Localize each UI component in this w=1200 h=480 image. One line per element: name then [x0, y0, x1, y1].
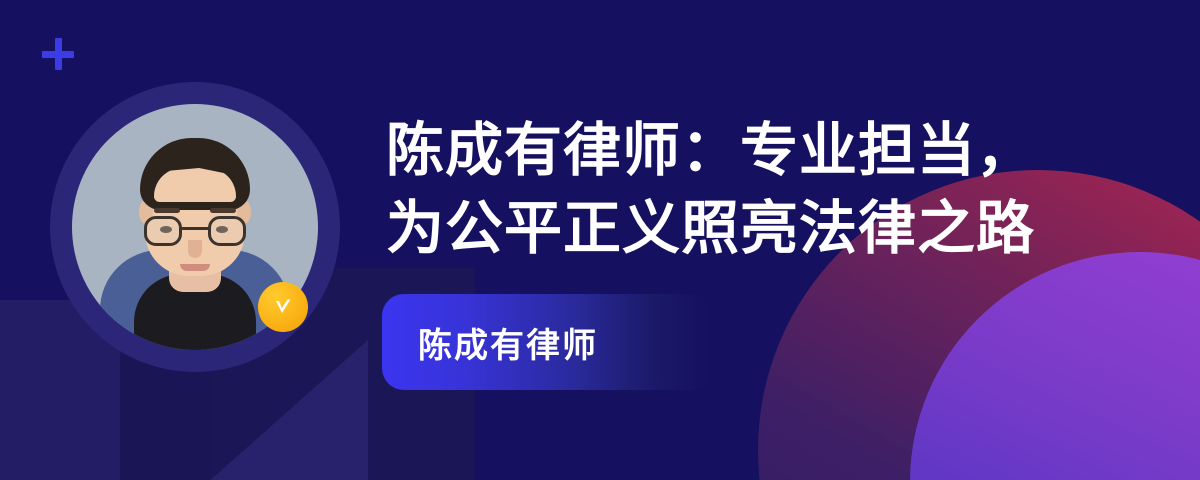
plus-icon — [42, 38, 74, 70]
portrait-mouth — [180, 264, 210, 271]
headline-line-1: 陈成有律师：专业担当， — [386, 112, 1086, 190]
verified-check-icon — [258, 282, 308, 332]
portrait-glasses-bridge — [182, 227, 208, 230]
headline-block: 陈成有律师：专业担当， 为公平正义照亮法律之路 — [386, 112, 1086, 268]
portrait-nose — [188, 240, 202, 258]
portrait-brow-left — [154, 208, 180, 213]
avatar — [50, 82, 340, 372]
portrait-brow-right — [210, 208, 236, 213]
headline-line-2: 为公平正义照亮法律之路 — [386, 190, 1086, 268]
portrait-lens-right — [208, 216, 246, 246]
lawyer-name-button[interactable]: 陈成有律师 — [382, 294, 712, 390]
portrait-hair — [140, 138, 250, 210]
page-title: 陈成有律师：专业担当， 为公平正义照亮法律之路 — [386, 112, 1086, 268]
portrait-lens-left — [144, 216, 182, 246]
lawyer-profile-banner: 陈成有律师：专业担当， 为公平正义照亮法律之路 陈成有律师 — [0, 0, 1200, 480]
